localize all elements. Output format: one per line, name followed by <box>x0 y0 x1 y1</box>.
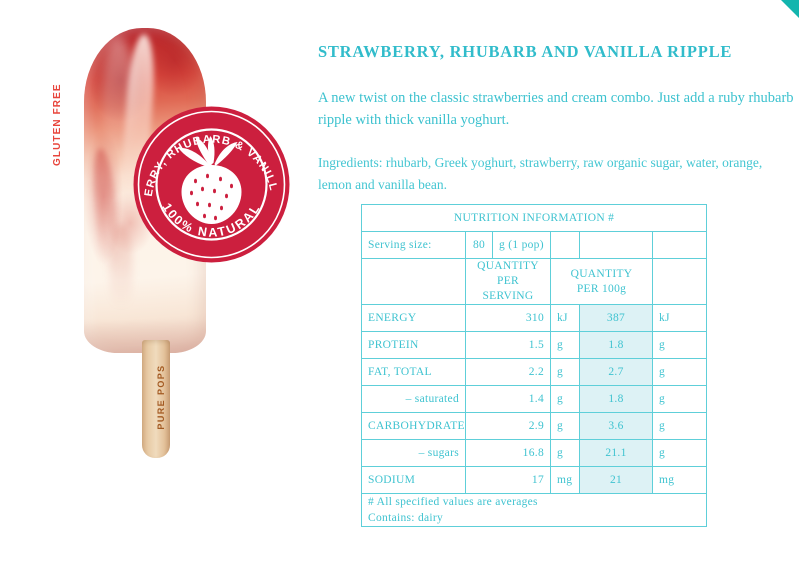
table-row: FAT, TOTAL 2.2 g 2.7 g <box>362 359 707 386</box>
table-row-column-headers: QUANTITY PER SERVING QUANTITY PER 100g <box>362 259 707 305</box>
nutrient-unit-per-100g: kJ <box>653 305 707 332</box>
nutrition-footnote: # All specified values are averages Cont… <box>362 494 707 527</box>
nutrient-value-per-serving: 16.8 <box>466 440 551 467</box>
table-row: PROTEIN 1.5 g 1.8 g <box>362 332 707 359</box>
gluten-free-label: GLUTEN FREE <box>52 76 63 166</box>
page-title: STRAWBERRY, RHUBARB AND VANILLA RIPPLE <box>318 42 732 62</box>
nutrition-information-table: NUTRITION INFORMATION # Serving size: 80… <box>361 204 707 527</box>
serving-size-label: Serving size: <box>362 232 466 259</box>
table-row-title: NUTRITION INFORMATION # <box>362 205 707 232</box>
nutrient-value-per-100g: 1.8 <box>580 386 653 413</box>
column-header-per-serving: QUANTITY PER SERVING <box>466 259 551 305</box>
popsicle-stick: PURE POPS <box>142 340 170 458</box>
nutrient-value-per-100g: 21.1 <box>580 440 653 467</box>
column-header-per-100g-line1: QUANTITY <box>571 268 633 280</box>
nutrient-unit-per-serving: g <box>551 359 580 386</box>
nutrient-unit-per-serving: g <box>551 413 580 440</box>
column-header-per-serving-line2: PER SERVING <box>482 275 533 302</box>
column-header-per-100g: QUANTITY PER 100g <box>551 259 653 305</box>
column-header-per-serving-line1: QUANTITY <box>477 260 539 272</box>
nutrition-table-title: NUTRITION INFORMATION # <box>362 205 707 232</box>
nutrient-value-per-serving: 1.4 <box>466 386 551 413</box>
column-header-per-100g-line2: PER 100g <box>577 283 626 295</box>
nutrient-value-per-serving: 2.9 <box>466 413 551 440</box>
nutrient-label: PROTEIN <box>362 332 466 359</box>
nutrient-unit-per-serving: kJ <box>551 305 580 332</box>
nutrient-value-per-100g: 21 <box>580 467 653 494</box>
footnote-averages: # All specified values are averages <box>368 494 700 510</box>
nutrient-value-per-100g: 1.8 <box>580 332 653 359</box>
nutrient-label: – sugars <box>362 440 466 467</box>
nutrient-unit-per-100g: g <box>653 332 707 359</box>
nutrient-label: FAT, TOTAL <box>362 359 466 386</box>
nutrient-unit-per-serving: g <box>551 386 580 413</box>
table-row: CARBOHYDRATE 2.9 g 3.6 g <box>362 413 707 440</box>
nutrient-label: ENERGY <box>362 305 466 332</box>
product-ingredients: Ingredients: rhubarb, Greek yoghurt, str… <box>318 152 788 196</box>
nutrient-label: – saturated <box>362 386 466 413</box>
nutrient-value-per-100g: 387 <box>580 305 653 332</box>
column-header-spacer-right <box>653 259 707 305</box>
nutrient-unit-per-100g: g <box>653 359 707 386</box>
nutrient-value-per-serving: 1.5 <box>466 332 551 359</box>
product-seal-badge: STRAWBERRY, RHUBARB & VANILLA RIPPLE 100… <box>130 103 293 266</box>
nutrient-unit-per-100g: g <box>653 413 707 440</box>
nutrient-value-per-100g: 3.6 <box>580 413 653 440</box>
product-details-panel: STRAWBERRY, RHUBARB AND VANILLA RIPPLE A… <box>318 0 805 562</box>
table-row-serving-size: Serving size: 80 g (1 pop) <box>362 232 707 259</box>
nutrient-label: CARBOHYDRATE <box>362 413 466 440</box>
nutrient-value-per-serving: 310 <box>466 305 551 332</box>
serving-size-empty-3 <box>653 232 707 259</box>
nutrient-value-per-serving: 17 <box>466 467 551 494</box>
serving-size-unit: g (1 pop) <box>493 232 551 259</box>
table-row-footnote: # All specified values are averages Cont… <box>362 494 707 527</box>
serving-size-empty-2 <box>580 232 653 259</box>
nutrient-value-per-100g: 2.7 <box>580 359 653 386</box>
popsicle-stick-brand-text: PURE POPS <box>156 356 166 438</box>
table-row: ENERGY 310 kJ 387 kJ <box>362 305 707 332</box>
nutrient-unit-per-serving: mg <box>551 467 580 494</box>
column-header-spacer <box>362 259 466 305</box>
strawberry-icon <box>179 136 242 224</box>
serving-size-empty-1 <box>551 232 580 259</box>
serving-size-value: 80 <box>466 232 493 259</box>
nutrient-unit-per-100g: g <box>653 440 707 467</box>
nutrient-unit-per-serving: g <box>551 332 580 359</box>
nutrient-label: SODIUM <box>362 467 466 494</box>
nutrient-value-per-serving: 2.2 <box>466 359 551 386</box>
popsicle-ripple-lower <box>110 224 132 316</box>
nutrient-unit-per-serving: g <box>551 440 580 467</box>
product-description: A new twist on the classic strawberries … <box>318 87 805 131</box>
nutrient-unit-per-100g: g <box>653 386 707 413</box>
table-row: SODIUM 17 mg 21 mg <box>362 467 707 494</box>
nutrient-unit-per-100g: mg <box>653 467 707 494</box>
product-image-panel: GLUTEN FREE PURE POPS STRAWBERRY, RHUBAR… <box>0 0 318 562</box>
footnote-allergens: Contains: dairy <box>368 510 700 526</box>
table-row: – saturated 1.4 g 1.8 g <box>362 386 707 413</box>
table-row: – sugars 16.8 g 21.1 g <box>362 440 707 467</box>
